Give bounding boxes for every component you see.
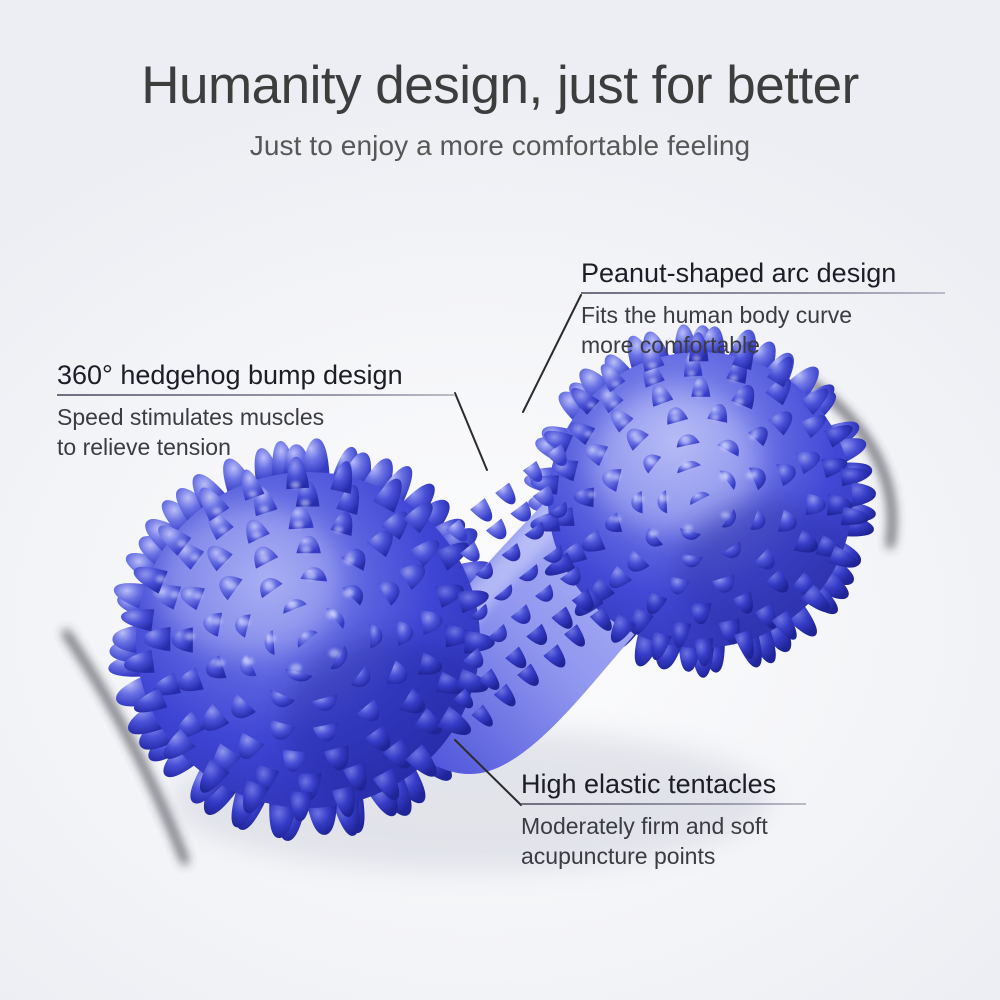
- spike-highlight: [334, 526, 343, 533]
- callout-underline: [57, 394, 455, 396]
- spike-highlight: [259, 555, 269, 563]
- spike-highlight: [681, 462, 691, 469]
- callout-heading: 360° hedgehog bump design: [57, 360, 455, 391]
- spike-highlight: [218, 527, 227, 533]
- spike-highlight: [227, 582, 237, 590]
- spike-highlight: [185, 633, 195, 641]
- spike-highlight: [300, 500, 309, 507]
- spike-highlight: [265, 583, 275, 591]
- spike-highlight: [719, 473, 729, 480]
- spike-highlight: [750, 434, 758, 440]
- spike-highlight: [695, 391, 703, 397]
- callout-body-line: Speed stimulates muscles: [57, 403, 455, 433]
- header-block: Humanity design, just for better Just to…: [0, 58, 1000, 162]
- spike-highlight: [746, 472, 756, 479]
- spike-highlight: [649, 530, 658, 536]
- page-title: Humanity design, just for better: [0, 58, 1000, 114]
- spike-highlight: [252, 532, 261, 539]
- callout-underline: [521, 803, 806, 805]
- callout-heading: Peanut-shaped arc design: [581, 258, 945, 289]
- spike-highlight: [688, 371, 695, 377]
- spike-highlight: [735, 398, 744, 405]
- callout-body: Moderately firm and soft acupuncture poi…: [521, 812, 806, 872]
- spike-highlight: [260, 506, 269, 513]
- spike-highlight: [290, 664, 301, 673]
- spike-highlight: [659, 495, 668, 502]
- spike-highlight: [657, 397, 666, 403]
- spike-highlight: [212, 617, 222, 624]
- callout-peanut-shaped-arc-design: Peanut-shaped arc design Fits the human …: [581, 258, 945, 361]
- callout-body-line: to relieve tension: [57, 433, 455, 463]
- spike-highlight: [613, 516, 621, 522]
- spike-highlight: [720, 444, 730, 451]
- spike-highlight: [711, 415, 719, 421]
- ball-spike: [510, 501, 531, 521]
- spike-highlight: [597, 450, 605, 456]
- spike-highlight: [684, 525, 693, 531]
- spike-highlight: [634, 436, 643, 443]
- spike-highlight: [730, 375, 738, 381]
- spike-highlight: [244, 658, 254, 665]
- spike-highlight: [329, 649, 340, 657]
- callout-body-line: more comfortable: [581, 331, 945, 361]
- infographic-page: Humanity design, just for better Just to…: [0, 0, 1000, 1000]
- spike-highlight: [217, 556, 226, 563]
- spike-highlight: [291, 482, 300, 489]
- spike-highlight: [212, 508, 221, 515]
- callout-high-elastic-tentacles: High elastic tentacles Moderately firm a…: [521, 769, 806, 872]
- spike-highlight: [610, 401, 618, 407]
- spike-highlight: [681, 438, 690, 445]
- spike-highlight: [249, 491, 257, 497]
- callout-body: Fits the human body curve more comfortab…: [581, 301, 945, 361]
- spike-highlight: [612, 474, 621, 481]
- spike-highlight: [344, 590, 354, 597]
- spike-highlight: [240, 619, 250, 626]
- callout-360-hedgehog-bump-design: 360° hedgehog bump design Speed stimulat…: [57, 360, 455, 463]
- spike-highlight: [287, 602, 297, 610]
- spike-highlight: [306, 572, 317, 580]
- spike-highlight: [635, 496, 644, 503]
- spike-highlight: [177, 540, 186, 547]
- callout-heading: High elastic tentacles: [521, 769, 806, 800]
- callout-body-line: Fits the human body curve: [581, 301, 945, 331]
- callout-underline: [581, 292, 945, 294]
- callout-body-line: acupuncture points: [521, 842, 806, 872]
- spike-highlight: [588, 491, 596, 497]
- spike-highlight: [648, 459, 656, 465]
- ball-spike: [470, 498, 492, 521]
- spike-highlight: [156, 575, 166, 582]
- spike-highlight: [215, 659, 225, 666]
- spike-highlight: [194, 592, 203, 599]
- spike-highlight: [293, 521, 303, 529]
- leader-hedgehog: [455, 393, 487, 470]
- spike-highlight: [649, 378, 657, 384]
- spike-highlight: [671, 415, 680, 421]
- spike-highlight: [587, 402, 595, 408]
- spike-highlight: [170, 591, 180, 598]
- spike-highlight: [326, 611, 337, 619]
- spike-highlight: [648, 362, 656, 368]
- ball-spike: [495, 483, 515, 505]
- spike-highlight: [620, 420, 628, 426]
- spike-highlight: [721, 512, 730, 518]
- spike-highlight: [266, 635, 276, 642]
- spike-highlight: [190, 554, 199, 561]
- page-subtitle: Just to enjoy a more comfortable feeling: [0, 130, 1000, 162]
- spike-highlight: [301, 546, 311, 553]
- callout-body-line: Moderately firm and soft: [521, 812, 806, 842]
- spike-highlight: [584, 431, 592, 437]
- callout-body: Speed stimulates muscles to relieve tens…: [57, 403, 455, 463]
- spike-highlight: [344, 557, 354, 565]
- ball-spike: [486, 519, 507, 540]
- spike-highlight: [612, 381, 620, 387]
